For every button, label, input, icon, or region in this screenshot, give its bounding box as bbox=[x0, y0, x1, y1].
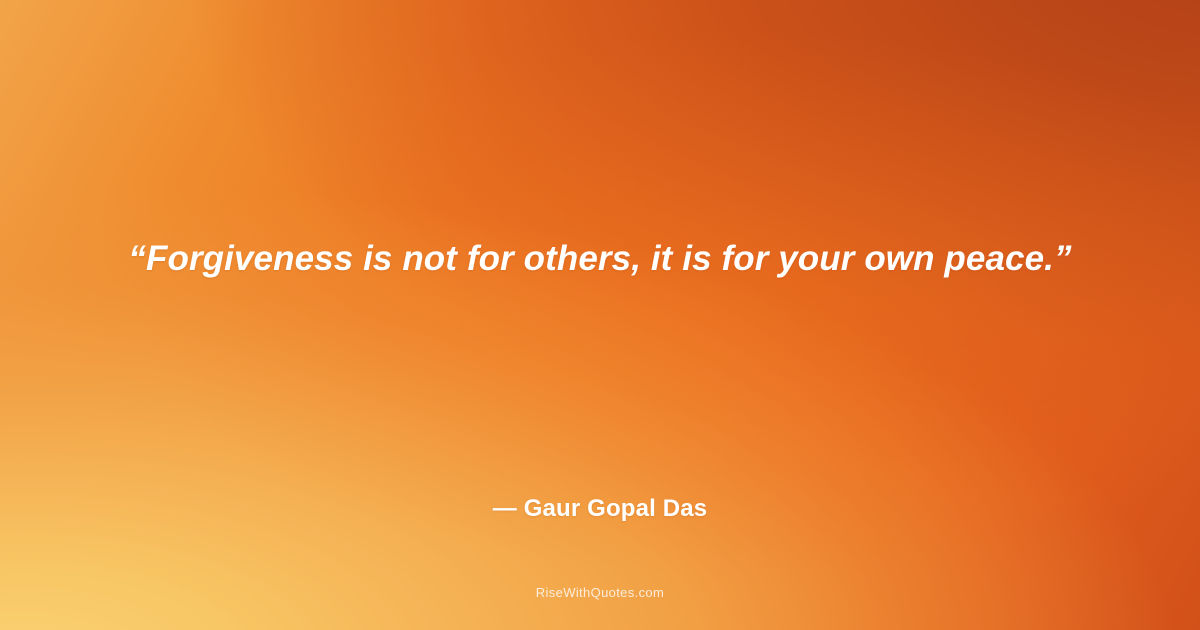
quote-card-content: “Forgiveness is not for others, it is fo… bbox=[0, 0, 1200, 630]
quote-attribution: — Gaur Gopal Das bbox=[0, 493, 1200, 525]
quote-text: “Forgiveness is not for others, it is fo… bbox=[0, 236, 1200, 282]
quote-card: “Forgiveness is not for others, it is fo… bbox=[0, 0, 1200, 630]
site-credit-watermark: RiseWithQuotes.com bbox=[0, 584, 1200, 602]
